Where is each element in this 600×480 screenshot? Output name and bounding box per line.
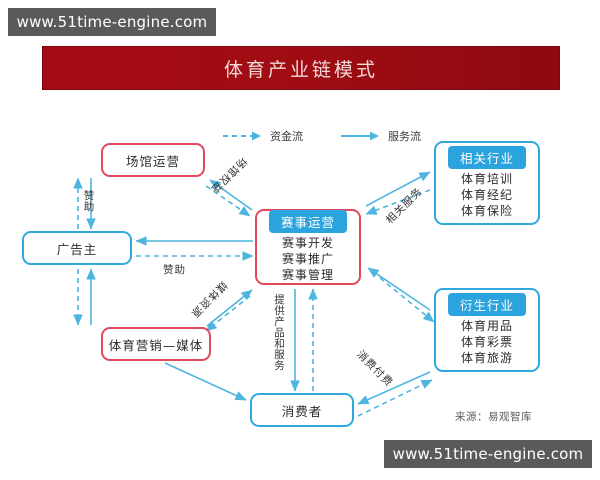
edge-label-provide-products: 提供产品和服务 <box>273 295 286 372</box>
node-sports-marketing-media[interactable]: 体育营销—媒体 <box>101 327 211 361</box>
legend-label-service-flow: 服务流 <box>388 128 421 144</box>
edge-label-sponsor-vertical: 赞助 <box>83 191 95 213</box>
dashed-arrow-icon <box>222 130 264 142</box>
node-event-item: 赛事推广 <box>282 252 334 268</box>
node-related-title: 相关行业 <box>448 146 526 169</box>
node-related-items: 体育培训 体育经纪 体育保险 <box>461 172 513 219</box>
node-derivative-title: 衍生行业 <box>448 293 526 316</box>
arrow-media-to-consumer <box>165 363 246 400</box>
edge-label-consume-pay: 消费付费 <box>353 347 396 390</box>
node-related-item: 体育培训 <box>461 172 513 188</box>
node-advertiser[interactable]: 广告主 <box>22 231 132 265</box>
watermark-top: www.51time-engine.com <box>8 8 216 36</box>
node-event-item: 赛事开发 <box>282 236 334 252</box>
arrow-consumer-to-deriv <box>358 380 432 416</box>
node-media-label: 体育营销—媒体 <box>109 335 204 354</box>
legend: 资金流 服务流 <box>222 126 437 146</box>
node-derivative-items: 体育用品 体育彩票 体育旅游 <box>461 319 513 366</box>
node-event-operations[interactable]: 赛事运营 赛事开发 赛事推广 赛事管理 <box>255 209 361 285</box>
node-derivative-item: 体育旅游 <box>461 351 513 367</box>
edge-label-media-resource: 媒体资源 <box>187 278 230 321</box>
node-related-industries[interactable]: 相关行业 体育培训 体育经纪 体育保险 <box>434 141 540 225</box>
node-derivative-industries[interactable]: 衍生行业 体育用品 体育彩票 体育旅游 <box>434 288 540 372</box>
node-consumer[interactable]: 消费者 <box>250 393 354 427</box>
node-consumer-label: 消费者 <box>282 401 323 420</box>
legend-item-capital-flow: 资金流 <box>222 126 303 146</box>
edge-label-related-service: 相关服务 <box>382 184 425 227</box>
arrow-deriv-to-event <box>368 268 430 310</box>
node-venue-operations[interactable]: 场馆运营 <box>101 143 205 177</box>
arrow-event-to-deriv <box>380 278 434 322</box>
node-event-item: 赛事管理 <box>282 268 334 284</box>
solid-arrow-icon <box>340 130 382 142</box>
node-derivative-item: 体育彩票 <box>461 335 513 351</box>
watermark-bottom: www.51time-engine.com <box>384 440 592 468</box>
diagram-canvas: www.51time-engine.com www.51time-engine.… <box>0 0 600 480</box>
node-event-title: 赛事运营 <box>269 210 347 233</box>
page-title: 体育产业链模式 <box>224 55 378 82</box>
legend-item-service-flow: 服务流 <box>340 126 421 146</box>
node-derivative-item: 体育用品 <box>461 319 513 335</box>
title-banner: 体育产业链模式 <box>42 46 560 90</box>
node-venue-label: 场馆运营 <box>126 151 180 170</box>
edge-label-sponsor-horizontal: 赞助 <box>163 262 186 277</box>
node-event-items: 赛事开发 赛事推广 赛事管理 <box>282 236 334 283</box>
node-related-item: 体育保险 <box>461 204 513 220</box>
legend-label-capital-flow: 资金流 <box>270 128 303 144</box>
source-attribution: 来源：易观智库 <box>455 409 532 424</box>
edge-label-venue-rights: 场馆权益 <box>207 154 250 197</box>
node-related-item: 体育经纪 <box>461 188 513 204</box>
node-advertiser-label: 广告主 <box>57 239 98 258</box>
